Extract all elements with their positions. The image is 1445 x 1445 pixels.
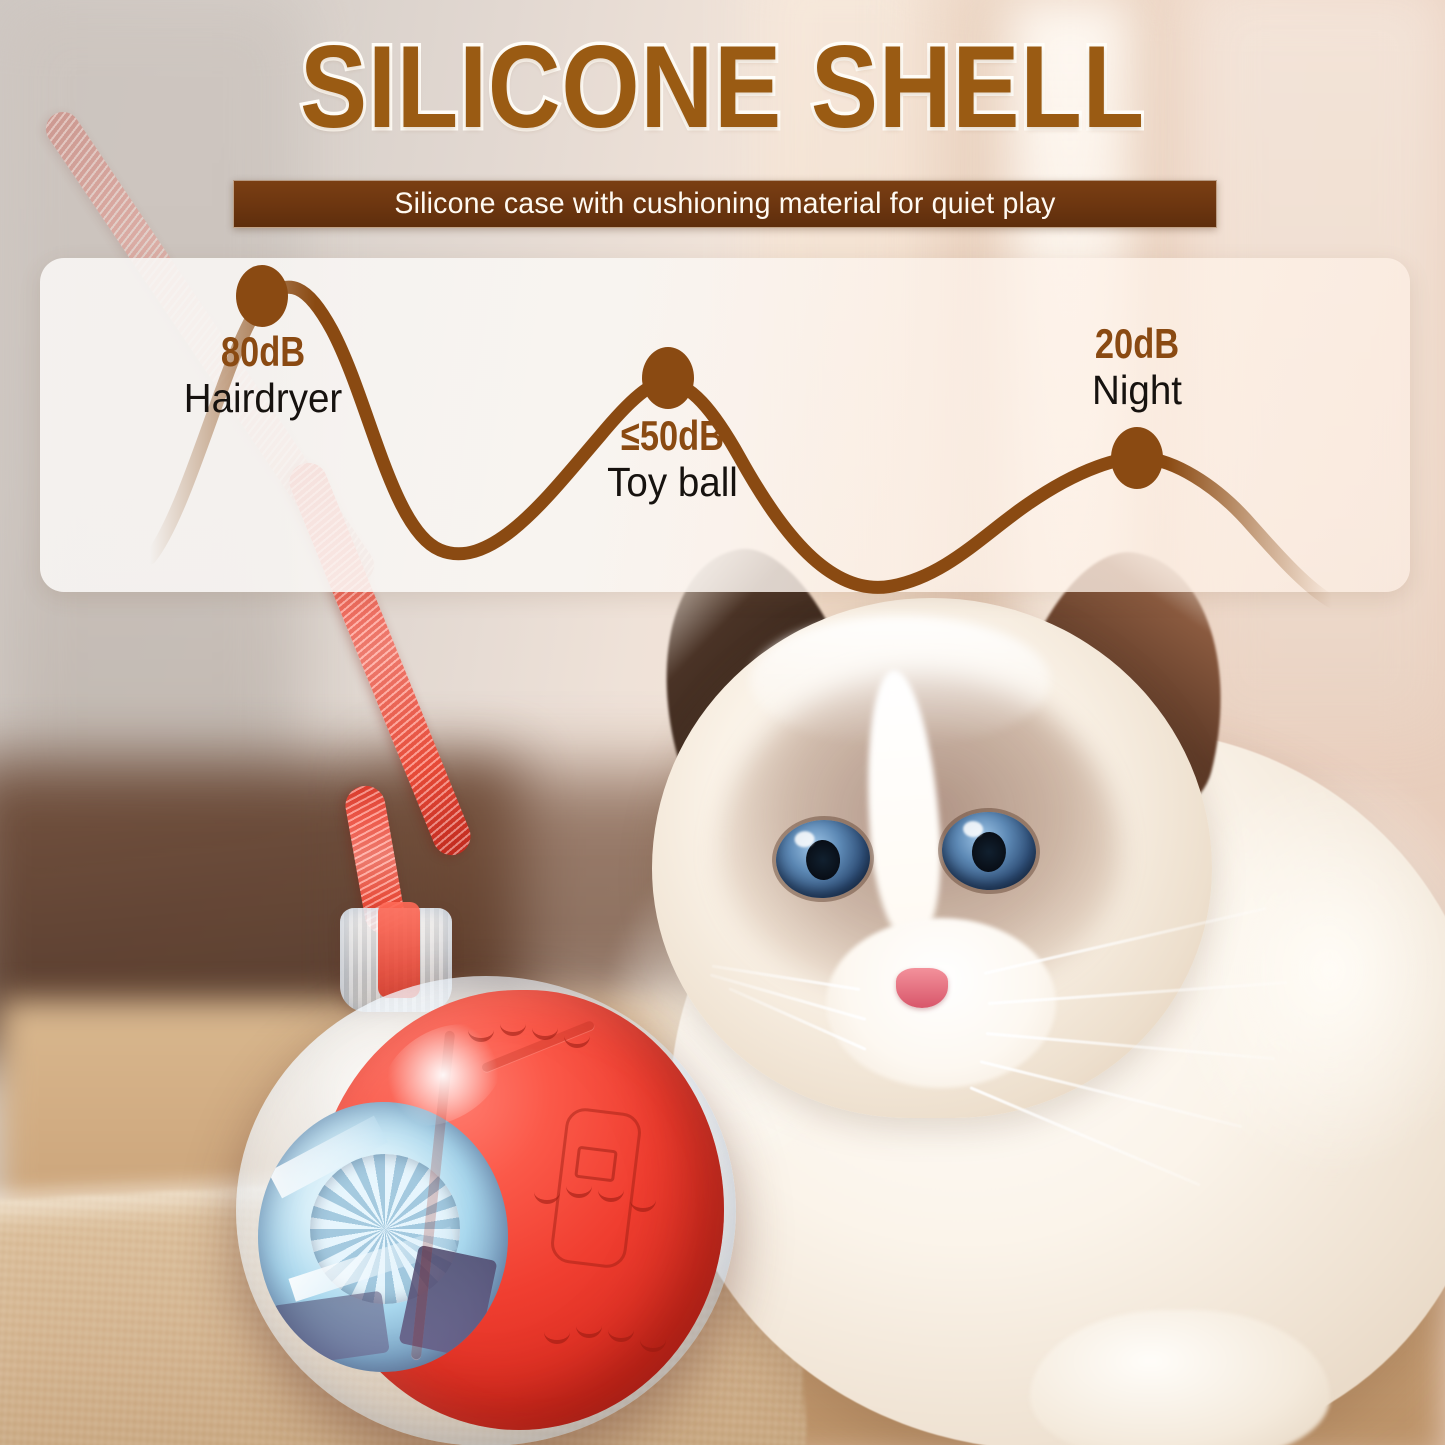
ball-cord-core <box>378 902 420 998</box>
ball-button-glyph <box>574 1146 618 1183</box>
page-title: SILICONE SHELL <box>101 28 1344 146</box>
data-point-marker-toyball <box>642 347 694 409</box>
cat-head-tuft <box>750 616 1050 746</box>
interactive-cat-ball <box>228 880 748 1440</box>
subtitle-banner: Silicone case with cushioning material f… <box>233 180 1217 228</box>
noise-comparison-panel <box>40 258 1410 592</box>
cat-muzzle <box>826 918 1056 1088</box>
ball-inner-housing <box>272 1291 390 1368</box>
subtitle-text: Silicone case with cushioning material f… <box>394 187 1055 221</box>
data-point-marker-hairdryer <box>236 265 288 327</box>
ball-inner-mechanism-window <box>258 1102 508 1372</box>
data-point-marker-night <box>1111 427 1163 489</box>
cat-pupil-right <box>971 831 1007 873</box>
product-infographic: SILICONE SHELL Silicone case with cushio… <box>0 0 1445 1445</box>
noise-wave-chart <box>40 258 1410 592</box>
